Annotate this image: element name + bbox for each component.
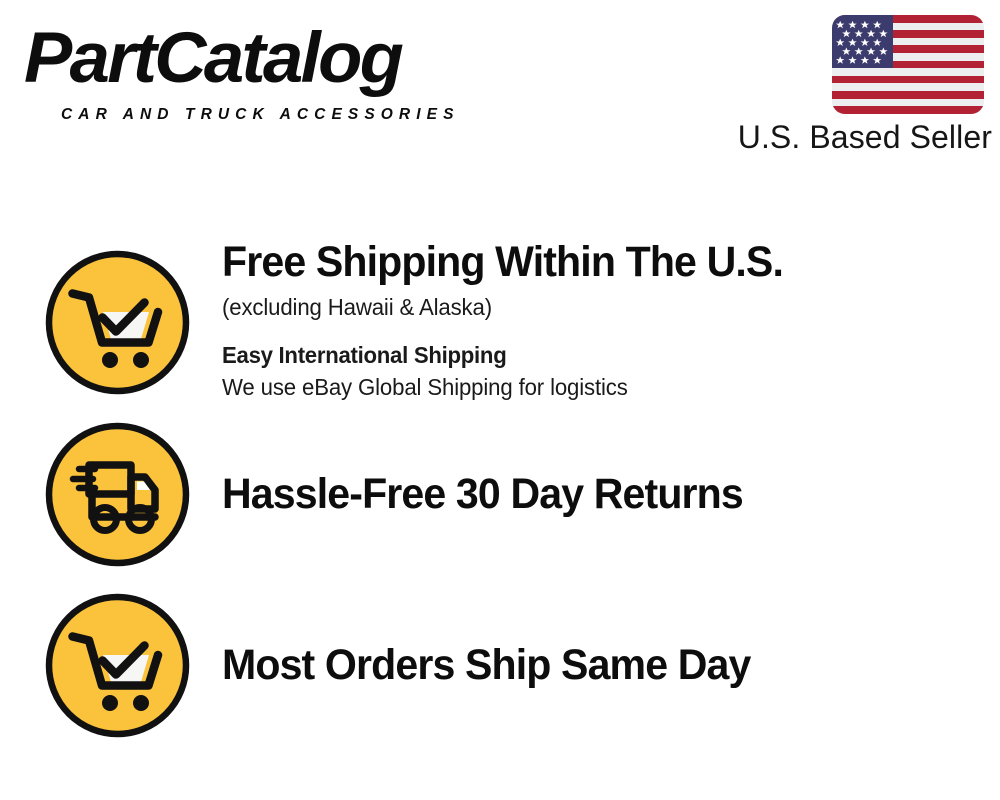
feature-text-group: Hassle-Free 30 Day Returns — [222, 470, 982, 518]
us-based-seller-label: U.S. Based Seller — [738, 118, 992, 156]
feature-subnote: (excluding Hawaii & Alaska) — [222, 292, 955, 322]
us-based-seller-badge: U.S. Based Seller — [722, 10, 992, 160]
feature-heading: Most Orders Ship Same Day — [222, 641, 948, 689]
feature-heading: Free Shipping Within The U.S. — [222, 238, 948, 286]
brand-tagline: CAR AND TRUCK ACCESSORIES — [61, 106, 460, 124]
shipping-info-banner: PartCatalog CAR AND TRUCK ACCESSORIES — [0, 0, 1000, 800]
us-flag-icon — [832, 15, 984, 114]
brand-wordmark: PartCatalog — [24, 20, 401, 98]
feature-text-group: Most Orders Ship Same Day — [222, 641, 982, 689]
feature-subheading-bold: Easy International Shipping — [222, 340, 955, 370]
feature-subdetail: We use eBay Global Shipping for logistic… — [222, 372, 955, 402]
feature-heading: Hassle-Free 30 Day Returns — [222, 470, 948, 518]
feature-text-group: Free Shipping Within The U.S. (excluding… — [222, 238, 982, 402]
shopping-cart-check-icon — [45, 593, 190, 738]
brand-logo: PartCatalog CAR AND TRUCK ACCESSORIES — [24, 20, 494, 120]
flag-canton — [832, 15, 893, 68]
delivery-truck-icon — [45, 422, 190, 567]
shopping-cart-check-icon — [45, 250, 190, 395]
